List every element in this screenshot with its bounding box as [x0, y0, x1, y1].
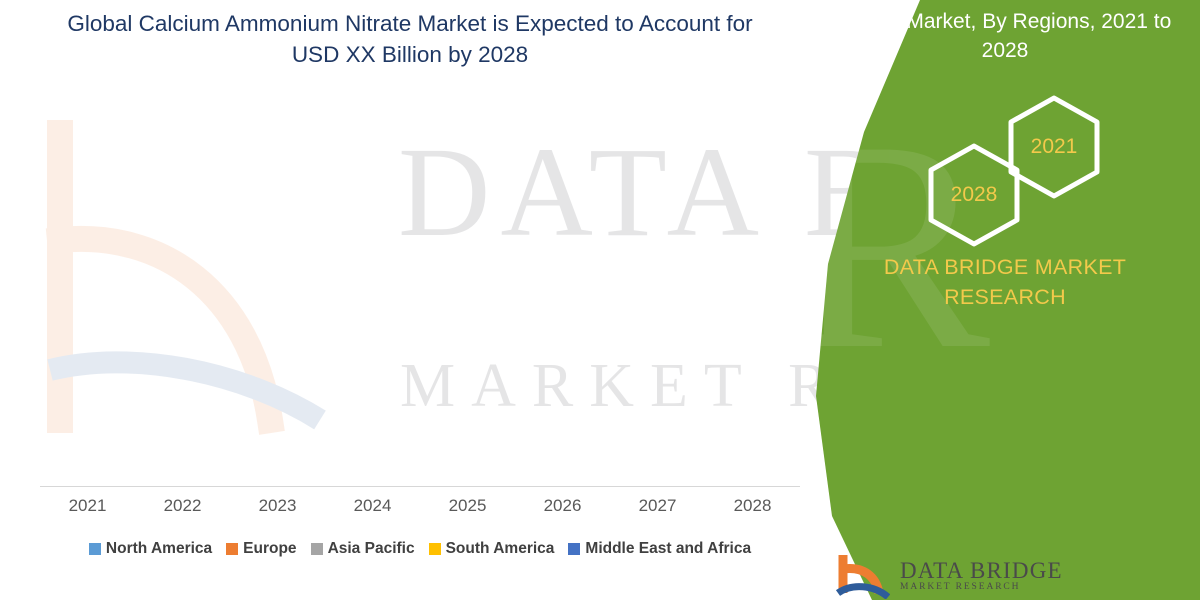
bars-container: [40, 100, 800, 486]
legend-item[interactable]: Middle East and Africa: [568, 540, 751, 558]
bar-column-2023: [233, 100, 323, 486]
legend-label: South America: [446, 540, 555, 558]
hexagon-group: 2021 2028: [880, 95, 1180, 245]
footer-logo-main: DATA BRIDGE: [900, 559, 1063, 582]
x-axis-label-2021: 2021: [43, 496, 133, 516]
bar-column-2028: [708, 100, 798, 486]
x-axis-labels: 20212022202320242025202620272028: [40, 496, 800, 516]
legend-item[interactable]: Europe: [226, 540, 296, 558]
footer-logo-sub: MARKET RESEARCH: [900, 583, 1063, 593]
legend-swatch-icon: [568, 543, 580, 555]
bar-column-2025: [423, 100, 513, 486]
chart-screenshot: DATA BRIDGE MARKET RESEARCH Global Calci…: [0, 0, 1200, 600]
hexagon-2021: 2021: [1008, 95, 1100, 199]
legend-swatch-icon: [89, 543, 101, 555]
brand-name: DATA BRIDGE MARKET RESEARCH: [830, 252, 1180, 312]
bar-column-2026: [518, 100, 608, 486]
bar-column-2022: [138, 100, 228, 486]
footer-logo-text: DATA BRIDGE MARKET RESEARCH: [900, 559, 1063, 592]
legend-label: Asia Pacific: [328, 540, 415, 558]
x-axis-line: [40, 486, 800, 487]
legend-swatch-icon: [226, 543, 238, 555]
legend-label: North America: [106, 540, 212, 558]
bar-column-2021: [43, 100, 133, 486]
legend-item[interactable]: South America: [429, 540, 555, 558]
footer-logo: DATA BRIDGE MARKET RESEARCH: [836, 552, 1086, 600]
x-axis-label-2028: 2028: [708, 496, 798, 516]
legend-swatch-icon: [429, 543, 441, 555]
legend-item[interactable]: North America: [89, 540, 212, 558]
x-axis-label-2022: 2022: [138, 496, 228, 516]
hexagon-2021-label: 2021: [1008, 95, 1100, 199]
x-axis-label-2025: 2025: [423, 496, 513, 516]
x-axis-label-2023: 2023: [233, 496, 323, 516]
x-axis-label-2024: 2024: [328, 496, 418, 516]
legend-label: Europe: [243, 540, 296, 558]
chart-panel: Global Calcium Ammonium Nitrate Market i…: [0, 0, 830, 600]
legend-swatch-icon: [311, 543, 323, 555]
legend-label: Middle East and Africa: [585, 540, 751, 558]
bar-column-2024: [328, 100, 418, 486]
x-axis-label-2027: 2027: [613, 496, 703, 516]
x-axis-label-2026: 2026: [518, 496, 608, 516]
data-bridge-logo-icon: [836, 553, 890, 599]
legend-item[interactable]: Asia Pacific: [311, 540, 415, 558]
bar-column-2027: [613, 100, 703, 486]
chart-title: Global Calcium Ammonium Nitrate Market i…: [60, 8, 760, 70]
chart-legend: North AmericaEuropeAsia PacificSouth Ame…: [40, 540, 800, 558]
hexagon-2028-label: 2028: [928, 143, 1020, 247]
green-panel-title: Nitrate Market, By Regions, 2021 to 2028: [830, 8, 1180, 66]
green-info-panel: R Nitrate Market, By Regions, 2021 to 20…: [800, 0, 1200, 600]
hexagon-2028: 2028: [928, 143, 1020, 247]
